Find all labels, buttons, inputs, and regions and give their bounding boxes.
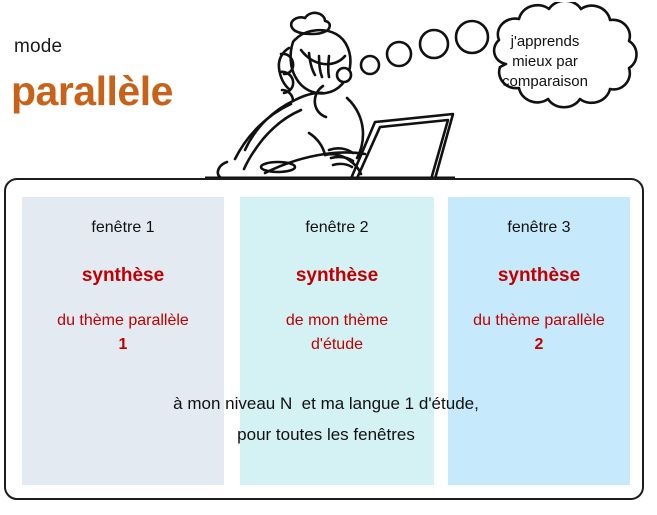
window-2-desc-line-1: de mon thème bbox=[286, 312, 388, 329]
window-1-title: fenêtre 1 bbox=[22, 219, 224, 237]
bubble-line-2: mieux par bbox=[470, 52, 620, 72]
window-2-synthesis: synthèse bbox=[240, 265, 434, 287]
window-2-title: fenêtre 2 bbox=[240, 219, 434, 237]
window-3-title: fenêtre 3 bbox=[448, 219, 630, 237]
window-1-desc-line-2: 1 bbox=[119, 336, 128, 353]
bubble-line-3: comparaison bbox=[470, 72, 620, 92]
window-3-synthesis: synthèse bbox=[448, 265, 630, 287]
header-area: mode parallèle bbox=[0, 0, 657, 178]
mode-label: mode bbox=[14, 36, 62, 58]
window-3-description: du thème parallèle 2 bbox=[448, 309, 630, 357]
thought-bubble-text: j'apprends mieux par comparaison bbox=[470, 32, 620, 92]
bubble-line-1: j'apprends bbox=[470, 32, 620, 52]
window-2-description: de mon thème d'étude bbox=[240, 309, 434, 357]
window-1-description: du thème parallèle 1 bbox=[22, 309, 224, 357]
mode-title: parallèle bbox=[11, 68, 173, 115]
window-3-desc-line-1: du thème parallèle bbox=[473, 312, 605, 329]
window-column-1[interactable]: fenêtre 1 synthèse du thème parallèle 1 bbox=[22, 197, 224, 485]
window-1-synthesis: synthèse bbox=[22, 265, 224, 287]
parallel-mode-panel: fenêtre 1 synthèse du thème parallèle 1 … bbox=[4, 178, 644, 500]
window-1-desc-line-1: du thème parallèle bbox=[57, 312, 189, 329]
window-2-desc-line-2: d'étude bbox=[311, 336, 363, 353]
window-columns: fenêtre 1 synthèse du thème parallèle 1 … bbox=[22, 197, 630, 485]
window-3-desc-line-2: 2 bbox=[535, 336, 544, 353]
window-column-2[interactable]: fenêtre 2 synthèse de mon thème d'étude bbox=[240, 197, 434, 485]
window-column-3[interactable]: fenêtre 3 synthèse du thème parallèle 2 bbox=[448, 197, 630, 485]
